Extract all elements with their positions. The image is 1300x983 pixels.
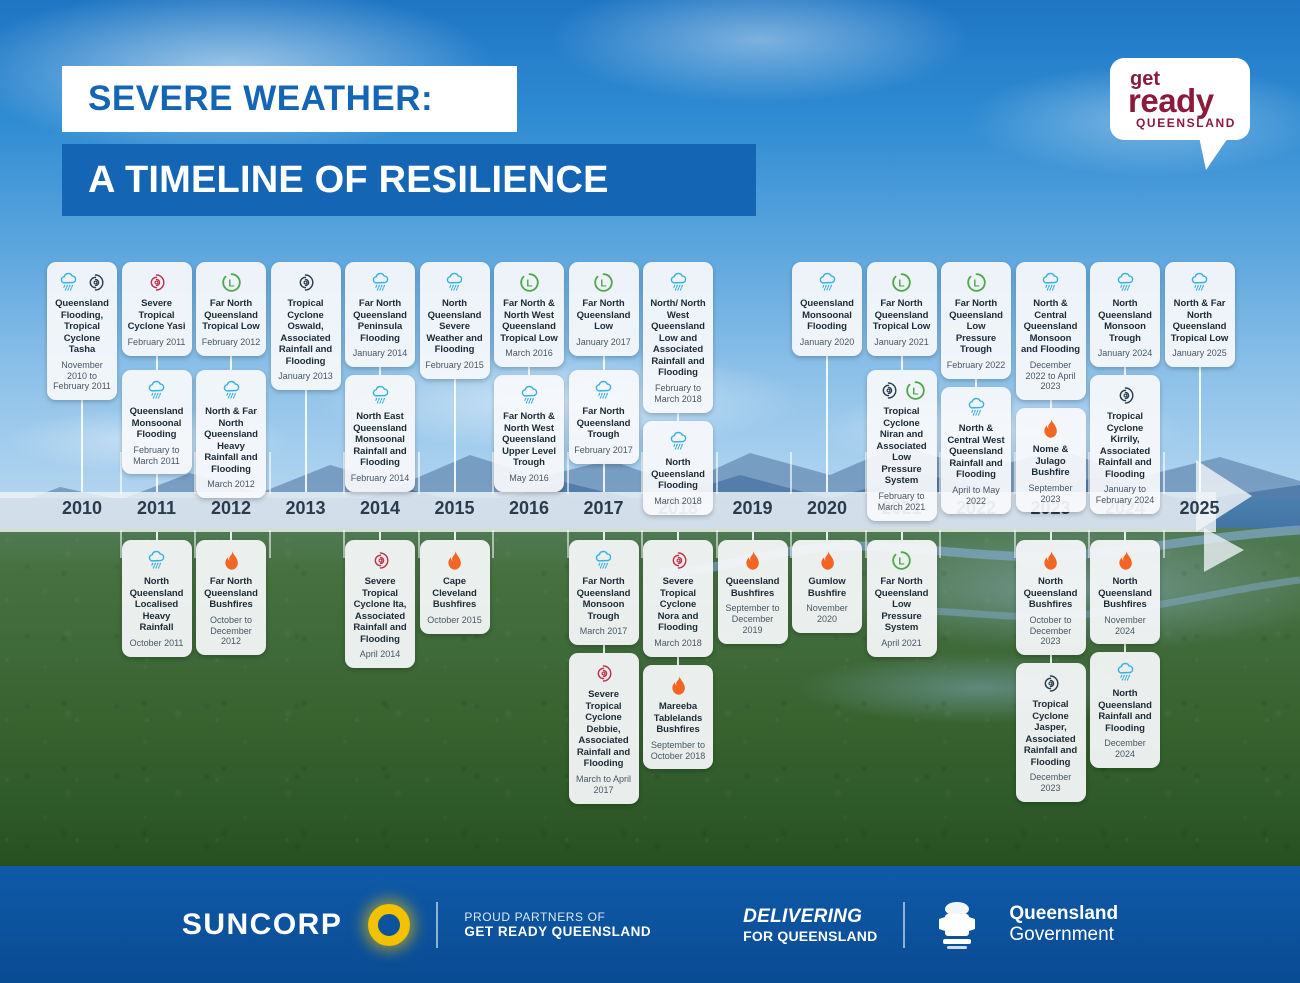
title-line-2: A TIMELINE OF RESILIENCE: [62, 144, 756, 216]
event-title: Far North Queensland Bushfires: [201, 576, 261, 611]
event-card[interactable]: North & Far North Queensland Tropical Lo…: [1165, 262, 1235, 367]
suncorp-sun-icon: [368, 904, 410, 946]
timeline-year-2012: 2012: [194, 498, 268, 519]
get-ready-queensland-logo: get ready QUEENSLAND: [1110, 58, 1250, 168]
event-icon-group: L: [890, 547, 913, 573]
event-icon-group: [667, 428, 690, 454]
footer-bar: SUNCORP PROUD PARTNERS OF GET READY QUEE…: [0, 866, 1300, 983]
event-date: February 2012: [202, 337, 261, 348]
event-card[interactable]: Queensland Monsoonal FloodingJanuary 202…: [792, 262, 862, 356]
rain-cloud-icon: [1188, 271, 1211, 294]
event-date: April 2021: [881, 638, 922, 649]
event-date: September 2023: [1021, 483, 1081, 505]
event-connector-link: [901, 356, 903, 370]
event-card[interactable]: North Queensland Severe Weather and Floo…: [420, 262, 490, 379]
bushfire-icon: [667, 674, 690, 697]
rain-cloud-icon: [220, 379, 243, 402]
rain-cloud-icon: [816, 271, 839, 294]
event-card[interactable]: LFar North Queensland Tropical LowJanuar…: [867, 262, 937, 356]
event-icon-group: [816, 269, 839, 295]
event-card[interactable]: North Queensland Monsoon TroughJanuary 2…: [1090, 262, 1160, 367]
queensland-coat-of-arms-icon: [931, 897, 983, 953]
event-connector-line: [81, 400, 83, 492]
event-card[interactable]: LTropical Cyclone Niran and Associated L…: [867, 370, 937, 521]
timeline-arrow-accent: [1204, 528, 1244, 572]
event-icon-group: [369, 547, 392, 573]
rain-cloud-icon: [145, 379, 168, 402]
cyclone-icon: [294, 271, 317, 294]
event-title: North Queensland Localised Heavy Rainfal…: [127, 576, 187, 634]
event-title: Severe Tropical Cyclone Yasi: [127, 298, 187, 333]
event-date: January to February 2024: [1095, 484, 1155, 506]
event-date: May 2016: [509, 473, 549, 484]
event-icon-group: [220, 547, 243, 573]
event-connector-line: [230, 532, 232, 540]
event-card[interactable]: Severe Tropical Cyclone Debbie, Associat…: [569, 653, 639, 804]
event-card[interactable]: North Queensland BushfiresOctober to Dec…: [1016, 540, 1086, 655]
event-icon-group: [1114, 269, 1137, 295]
event-date: September to December 2019: [723, 603, 783, 635]
event-title: Gumlow Bushfire: [797, 576, 857, 599]
event-icon-group: [667, 269, 690, 295]
timeline-tick-above-2020: [790, 452, 792, 494]
event-icon-group: [965, 394, 988, 420]
cyclone-icon: [1114, 384, 1137, 407]
event-card[interactable]: Far North Queensland TroughFebruary 2017: [569, 370, 639, 464]
event-card[interactable]: Cape Cleveland BushfiresOctober 2015: [420, 540, 490, 634]
bushfire-icon: [1039, 417, 1062, 440]
event-connector-link: [528, 367, 530, 375]
event-connector-line: [1050, 532, 1052, 540]
rain-cloud-icon: [592, 379, 615, 402]
event-connector-line: [454, 532, 456, 540]
event-icon-group: [145, 269, 168, 295]
event-date: November 2024: [1095, 615, 1155, 637]
event-card[interactable]: North/ North West Queensland Low and Ass…: [643, 262, 713, 413]
event-card[interactable]: North & Central West Queensland Rainfall…: [941, 387, 1011, 514]
event-title: North Queensland Bushfires: [1095, 576, 1155, 611]
event-icon-group: [57, 269, 107, 295]
event-icon-group: [443, 269, 466, 295]
event-connector-line: [677, 532, 679, 540]
logo-text-queensland: QUEENSLAND: [1136, 116, 1236, 130]
qld-gov-line1: Queensland: [1009, 904, 1118, 925]
bushfire-icon: [1114, 549, 1137, 572]
event-connector-line: [305, 390, 307, 492]
event-date: December 2022 to April 2023: [1021, 360, 1081, 392]
event-card[interactable]: LFar North Queensland Low Pressure Syste…: [867, 540, 937, 657]
event-card[interactable]: LFar North Queensland Low Pressure Troug…: [941, 262, 1011, 379]
event-title: North Queensland Bushfires: [1021, 576, 1081, 611]
event-icon-group: [1114, 382, 1137, 408]
event-title: Queensland Flooding, Tropical Cyclone Ta…: [52, 298, 112, 356]
event-card[interactable]: North Queensland Localised Heavy Rainfal…: [122, 540, 192, 657]
event-card[interactable]: Queensland Monsoonal FloodingFebruary to…: [122, 370, 192, 474]
event-title: Far North Queensland Peninsula Flooding: [350, 298, 410, 344]
event-date: March 2017: [580, 626, 628, 637]
event-connector-line: [752, 532, 754, 540]
event-date: October 2015: [427, 615, 482, 626]
severe-cyclone-icon: [667, 549, 690, 572]
event-title: Mareeba Tablelands Bushfires: [648, 701, 708, 736]
event-title: North Queensland Rainfall and Flooding: [1095, 688, 1155, 734]
event-card[interactable]: Tropical Cyclone Oswald, Associated Rain…: [271, 262, 341, 390]
event-icon-group: [1039, 415, 1062, 441]
timeline-tick-below-2025: [1163, 530, 1165, 558]
event-icon-group: [294, 269, 317, 295]
low-pressure-icon: L: [220, 271, 243, 294]
event-title: North Queensland Severe Weather and Floo…: [425, 298, 485, 356]
timeline-year-2011: 2011: [120, 498, 194, 519]
svg-text:L: L: [898, 278, 904, 289]
event-title: Far North Queensland Low Pressure System: [872, 576, 932, 634]
event-card[interactable]: Queensland Flooding, Tropical Cyclone Ta…: [47, 262, 117, 400]
event-date: February 2022: [947, 360, 1006, 371]
event-icon-group: [1039, 547, 1062, 573]
event-date: February to March 2011: [127, 445, 187, 467]
svg-text:L: L: [912, 386, 918, 397]
event-title: Tropical Cyclone Niran and Associated Lo…: [872, 406, 932, 487]
event-title: Tropical Cyclone Kirrily, Associated Rai…: [1095, 411, 1155, 480]
rain-cloud-icon: [369, 271, 392, 294]
event-icon-group: [667, 547, 690, 573]
event-date: March 2012: [207, 479, 255, 490]
event-connector-line: [156, 532, 158, 540]
event-icon-group: [369, 382, 392, 408]
title-text-secondary: A TIMELINE OF RESILIENCE: [88, 159, 609, 202]
event-title: Severe Tropical Cyclone Nora and Floodin…: [648, 576, 708, 634]
cyclone-icon: [84, 271, 107, 294]
event-title: North & Central Queensland Monsoon and F…: [1021, 298, 1081, 356]
event-icon-group: L: [592, 269, 615, 295]
event-connector-link: [1050, 400, 1052, 408]
partner-label-line1: PROUD PARTNERS OF: [464, 910, 651, 924]
event-icon-group: [1039, 670, 1062, 696]
event-icon-group: [1114, 547, 1137, 573]
event-icon-group: L: [220, 269, 243, 295]
event-date: October to December 2012: [201, 615, 261, 647]
logo-speech-tail: [1194, 132, 1232, 170]
event-connector-line: [901, 532, 903, 540]
event-card[interactable]: North & Far North Queensland Heavy Rainf…: [196, 370, 266, 498]
logo-text-ready: ready: [1128, 82, 1214, 120]
event-card[interactable]: Mareeba Tablelands BushfiresSeptember to…: [643, 665, 713, 769]
event-date: February 2011: [128, 337, 186, 348]
bushfire-icon: [1039, 549, 1062, 572]
cyclone-icon: [1039, 672, 1062, 695]
rain-cloud-icon: [667, 430, 690, 453]
rain-cloud-icon: [369, 384, 392, 407]
event-card[interactable]: North & Central Queensland Monsoon and F…: [1016, 262, 1086, 400]
event-date: October 2011: [130, 638, 184, 649]
svg-text:L: L: [526, 278, 532, 289]
event-connector-link: [1050, 655, 1052, 663]
timeline-tick-above-2025: [1163, 452, 1165, 494]
delivering-line2: FOR QUEENSLAND: [743, 928, 877, 944]
event-date: September to October 2018: [648, 740, 708, 762]
event-connector-line: [603, 464, 605, 492]
svg-text:L: L: [973, 278, 979, 289]
event-title: Far North Queensland Trough: [574, 406, 634, 441]
bushfire-icon: [816, 549, 839, 572]
footer-divider-1: [436, 902, 438, 948]
event-title: Far North Queensland Tropical Low: [872, 298, 932, 333]
event-connector-line: [826, 532, 828, 540]
event-title: Cape Cleveland Bushfires: [425, 576, 485, 611]
event-date: March to April 2017: [574, 774, 634, 796]
event-card[interactable]: Far North & North West Queensland Upper …: [494, 375, 564, 492]
timeline-tick-above-2017: [567, 452, 569, 494]
event-card[interactable]: Severe Tropical Cyclone Ita, Associated …: [345, 540, 415, 668]
event-title: Far North Queensland Tropical Low: [201, 298, 261, 333]
rain-cloud-icon: [1114, 271, 1137, 294]
event-date: January 2021: [874, 337, 929, 348]
rain-cloud-icon: [1114, 661, 1137, 684]
event-icon-group: L: [518, 269, 541, 295]
rain-cloud-icon: [443, 271, 466, 294]
severe-cyclone-icon: [592, 662, 615, 685]
event-date: April 2014: [360, 649, 401, 660]
event-date: December 2023: [1021, 772, 1081, 794]
event-date: January 2013: [278, 371, 333, 382]
event-icon-group: [1188, 269, 1211, 295]
timeline-year-2013: 2013: [269, 498, 343, 519]
bushfire-icon: [443, 549, 466, 572]
timeline-tick-above-2019: [716, 452, 718, 494]
event-title: Nome & Julago Bushfire: [1021, 444, 1081, 479]
event-title: North & Far North Queensland Tropical Lo…: [1170, 298, 1230, 344]
event-date: March 2018: [654, 638, 702, 649]
event-connector-link: [156, 356, 158, 370]
event-card[interactable]: Far North Queensland Peninsula FloodingJ…: [345, 262, 415, 367]
event-date: December 2024: [1095, 738, 1155, 760]
event-date: January 2025: [1172, 348, 1227, 359]
timeline-year-2014: 2014: [343, 498, 417, 519]
event-title: North & Far North Queensland Heavy Rainf…: [201, 406, 261, 475]
timeline-tick-below-2022: [939, 530, 941, 558]
event-icon-group: [816, 547, 839, 573]
rain-cloud-icon: [145, 549, 168, 572]
rain-cloud-icon: [57, 271, 80, 294]
timeline-year-2017: 2017: [567, 498, 641, 519]
title-line-1: SEVERE WEATHER:: [62, 66, 517, 132]
timeline-year-2025: 2025: [1163, 498, 1237, 519]
event-icon-group: [145, 547, 168, 573]
event-card[interactable]: LFar North Queensland Tropical LowFebrua…: [196, 262, 266, 356]
event-connector-link: [975, 379, 977, 387]
rain-cloud-icon: [518, 384, 541, 407]
event-card[interactable]: North Queensland BushfiresNovember 2024: [1090, 540, 1160, 644]
event-icon-group: L: [965, 269, 988, 295]
low-pressure-icon: L: [518, 271, 541, 294]
event-connector-link: [379, 367, 381, 375]
event-icon-group: [443, 547, 466, 573]
event-date: January 2014: [353, 348, 408, 359]
event-connector-line: [454, 379, 456, 492]
event-connector-link: [603, 645, 605, 653]
cyclone-icon: [877, 379, 900, 402]
event-title: Severe Tropical Cyclone Debbie, Associat…: [574, 689, 634, 770]
event-title: Far North & North West Queensland Tropic…: [499, 298, 559, 344]
timeline-year-2010: 2010: [45, 498, 119, 519]
event-connector-line: [1124, 532, 1126, 540]
event-title: Tropical Cyclone Oswald, Associated Rain…: [276, 298, 336, 367]
event-title: Queensland Bushfires: [723, 576, 783, 599]
event-card[interactable]: North Queensland Rainfall and FloodingDe…: [1090, 652, 1160, 768]
event-title: North & Central West Queensland Rainfall…: [946, 423, 1006, 481]
low-pressure-icon: L: [904, 379, 927, 402]
event-title: North East Queensland Monsoonal Rainfall…: [350, 411, 410, 469]
event-icon-group: L: [877, 377, 927, 403]
event-card[interactable]: Far North Queensland BushfiresOctober to…: [196, 540, 266, 655]
event-card[interactable]: Tropical Cyclone Jasper, Associated Rain…: [1016, 663, 1086, 802]
severe-cyclone-icon: [369, 549, 392, 572]
event-icon-group: [592, 547, 615, 573]
event-date: March 2016: [505, 348, 553, 359]
event-icon-group: [1114, 659, 1137, 685]
low-pressure-icon: L: [965, 271, 988, 294]
svg-text:L: L: [898, 556, 904, 567]
event-title: North/ North West Queensland Low and Ass…: [648, 298, 708, 379]
svg-text:L: L: [600, 278, 606, 289]
event-card[interactable]: Severe Tropical Cyclone Nora and Floodin…: [643, 540, 713, 657]
event-icon-group: [369, 269, 392, 295]
event-card[interactable]: Nome & Julago BushfireSeptember 2023: [1016, 408, 1086, 512]
event-date: February 2017: [574, 445, 633, 456]
event-title: North Queensland Monsoon Trough: [1095, 298, 1155, 344]
event-date: January 2024: [1098, 348, 1153, 359]
timeline-arrow-head: [1196, 460, 1252, 532]
timeline-year-2020: 2020: [790, 498, 864, 519]
event-icon-group: [592, 660, 615, 686]
event-title: Severe Tropical Cyclone Ita, Associated …: [350, 576, 410, 645]
event-title: Far North Queensland Monsoon Trough: [574, 576, 634, 622]
event-card[interactable]: North East Queensland Monsoonal Rainfall…: [345, 375, 415, 492]
event-date: February 2015: [425, 360, 484, 371]
event-title: Tropical Cyclone Jasper, Associated Rain…: [1021, 699, 1081, 768]
low-pressure-icon: L: [592, 271, 615, 294]
event-date: November 2010 to February 2011: [52, 360, 112, 392]
event-card[interactable]: Queensland BushfiresSeptember to Decembe…: [718, 540, 788, 644]
event-title: Far North Queensland Low Pressure Trough: [946, 298, 1006, 356]
event-date: October to December 2023: [1021, 615, 1081, 647]
timeline-tick-below-2016: [492, 530, 494, 558]
partner-label-line2: GET READY QUEENSLAND: [464, 924, 651, 939]
event-icon-group: [518, 382, 541, 408]
event-connector-line: [379, 532, 381, 540]
event-icon-group: [592, 377, 615, 403]
event-date: February 2014: [351, 473, 410, 484]
event-connector-line: [156, 474, 158, 492]
event-title: Queensland Monsoonal Flooding: [127, 406, 187, 441]
timeline-tick-below-2013: [269, 530, 271, 558]
timeline-year-2016: 2016: [492, 498, 566, 519]
event-connector-link: [1124, 367, 1126, 375]
rain-cloud-icon: [592, 549, 615, 572]
event-icon-group: [220, 377, 243, 403]
event-connector-line: [603, 532, 605, 540]
event-icon-group: L: [890, 269, 913, 295]
event-date: April to May 2022: [946, 485, 1006, 507]
event-card[interactable]: North Queensland FloodingMarch 2018: [643, 421, 713, 515]
event-connector-link: [677, 657, 679, 665]
event-date: January 2017: [576, 337, 631, 348]
low-pressure-icon: L: [890, 271, 913, 294]
event-title: North Queensland Flooding: [648, 457, 708, 492]
event-connector-link: [1124, 644, 1126, 652]
footer-divider-2: [903, 902, 905, 948]
event-connector-line: [826, 356, 828, 492]
timeline-year-2019: 2019: [716, 498, 790, 519]
event-title: Queensland Monsoonal Flooding: [797, 298, 857, 333]
qld-gov-line2: Government: [1009, 925, 1118, 946]
event-date: February to March 2018: [648, 383, 708, 405]
event-date: March 2018: [654, 496, 702, 507]
timeline-year-2015: 2015: [418, 498, 492, 519]
suncorp-logo-text: SUNCORP: [182, 908, 343, 942]
event-connector-line: [1199, 367, 1201, 492]
event-card[interactable]: Far North Queensland Monsoon TroughMarch…: [569, 540, 639, 645]
rain-cloud-icon: [965, 396, 988, 419]
event-connector-link: [230, 356, 232, 370]
event-icon-group: [741, 547, 764, 573]
event-icon-group: [1039, 269, 1062, 295]
infographic-root: SEVERE WEATHER: A TIMELINE OF RESILIENCE…: [0, 0, 1300, 983]
timeline-tick-above-2013: [269, 452, 271, 494]
event-card[interactable]: LFar North Queensland LowJanuary 2017: [569, 262, 639, 356]
event-card[interactable]: Severe Tropical Cyclone YasiFebruary 201…: [122, 262, 192, 356]
event-date: February to March 2021: [872, 491, 932, 513]
svg-text:L: L: [228, 278, 234, 289]
rain-cloud-icon: [667, 271, 690, 294]
severe-cyclone-icon: [145, 271, 168, 294]
low-pressure-icon: L: [890, 549, 913, 572]
rain-cloud-icon: [1039, 271, 1062, 294]
event-connector-link: [603, 356, 605, 370]
delivering-line1: DELIVERING: [743, 906, 877, 928]
bushfire-icon: [741, 549, 764, 572]
event-card[interactable]: Tropical Cyclone Kirrily, Associated Rai…: [1090, 375, 1160, 514]
event-title: Far North Queensland Low: [574, 298, 634, 333]
event-title: Far North & North West Queensland Upper …: [499, 411, 559, 469]
event-card[interactable]: LFar North & North West Queensland Tropi…: [494, 262, 564, 367]
timeline-tick-above-2015: [418, 452, 420, 494]
event-connector-link: [677, 413, 679, 421]
event-date: November 2020: [797, 603, 857, 625]
event-card[interactable]: Gumlow BushfireNovember 2020: [792, 540, 862, 633]
bushfire-icon: [220, 549, 243, 572]
event-date: January 2020: [800, 337, 855, 348]
title-text-primary: SEVERE WEATHER:: [88, 79, 433, 119]
event-icon-group: [667, 672, 690, 698]
event-icon-group: [145, 377, 168, 403]
